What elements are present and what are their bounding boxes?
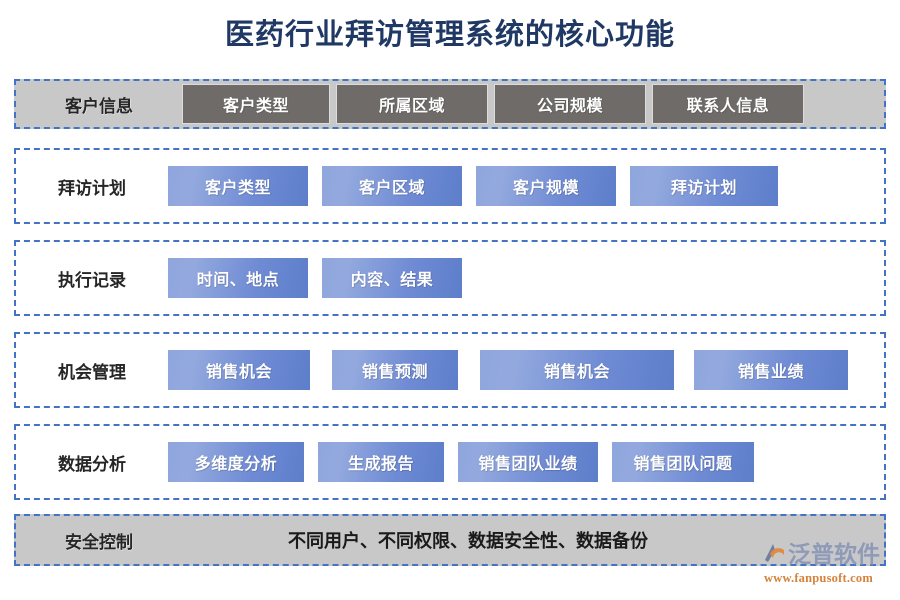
chip-strip-execution-record: 时间、地点 内容、结果 — [168, 242, 884, 314]
row-label-execution-record: 执行记录 — [16, 266, 168, 291]
chip-customer-region[interactable]: 客户区域 — [322, 166, 462, 206]
chip-contact-info[interactable]: 联系人信息 — [652, 84, 804, 124]
chip-sales-opportunity-2[interactable]: 销售机会 — [480, 350, 674, 390]
chip-time-location[interactable]: 时间、地点 — [168, 258, 308, 298]
chip-customer-type[interactable]: 客户类型 — [168, 166, 308, 206]
security-control-description: 不同用户、不同权限、数据安全性、数据备份 — [288, 527, 648, 553]
row-data-analysis: 数据分析 多维度分析 生成报告 销售团队业绩 销售团队问题 — [14, 424, 886, 500]
chip-strip-opportunity-management: 销售机会 销售预测 销售机会 销售业绩 — [168, 334, 884, 406]
chip-sales-team-issues[interactable]: 销售团队问题 — [612, 442, 754, 482]
chip-strip-visit-plan: 客户类型 客户区域 客户规模 拜访计划 — [168, 150, 884, 222]
chip-content-result[interactable]: 内容、结果 — [322, 258, 462, 298]
row-visit-plan: 拜访计划 客户类型 客户区域 客户规模 拜访计划 — [14, 148, 886, 224]
chip-visit-plan[interactable]: 拜访计划 — [630, 166, 778, 206]
chip-generate-report[interactable]: 生成报告 — [318, 442, 444, 482]
row-label-visit-plan: 拜访计划 — [16, 174, 168, 199]
row-label-security-control: 安全控制 — [16, 528, 182, 553]
chip-multidimensional-analysis[interactable]: 多维度分析 — [168, 442, 304, 482]
chip-sales-performance[interactable]: 销售业绩 — [694, 350, 848, 390]
chip-sales-forecast[interactable]: 销售预测 — [332, 350, 458, 390]
chip-sales-team-performance[interactable]: 销售团队业绩 — [458, 442, 598, 482]
row-label-data-analysis: 数据分析 — [16, 450, 168, 475]
chip-strip-data-analysis: 多维度分析 生成报告 销售团队业绩 销售团队问题 — [168, 426, 884, 498]
chip-strip-security-control: 不同用户、不同权限、数据安全性、数据备份 — [182, 516, 884, 564]
row-customer-info: 客户信息 客户类型 所属区域 公司规模 联系人信息 — [14, 79, 886, 129]
brand-url: www.fanpusoft.com — [764, 571, 894, 586]
row-label-opportunity-management: 机会管理 — [16, 358, 168, 383]
page-title: 医药行业拜访管理系统的核心功能 — [0, 14, 900, 54]
chip-strip-customer-info: 客户类型 所属区域 公司规模 联系人信息 — [182, 81, 884, 127]
chip-customer-scale[interactable]: 客户规模 — [476, 166, 616, 206]
chip-sales-opportunity[interactable]: 销售机会 — [168, 350, 310, 390]
chip-customer-type[interactable]: 客户类型 — [182, 84, 330, 124]
row-execution-record: 执行记录 时间、地点 内容、结果 — [14, 240, 886, 316]
row-opportunity-management: 机会管理 销售机会 销售预测 销售机会 销售业绩 — [14, 332, 886, 408]
chip-region[interactable]: 所属区域 — [336, 84, 488, 124]
row-security-control: 安全控制 不同用户、不同权限、数据安全性、数据备份 — [14, 514, 886, 566]
row-label-customer-info: 客户信息 — [16, 92, 182, 117]
chip-company-size[interactable]: 公司规模 — [494, 84, 646, 124]
